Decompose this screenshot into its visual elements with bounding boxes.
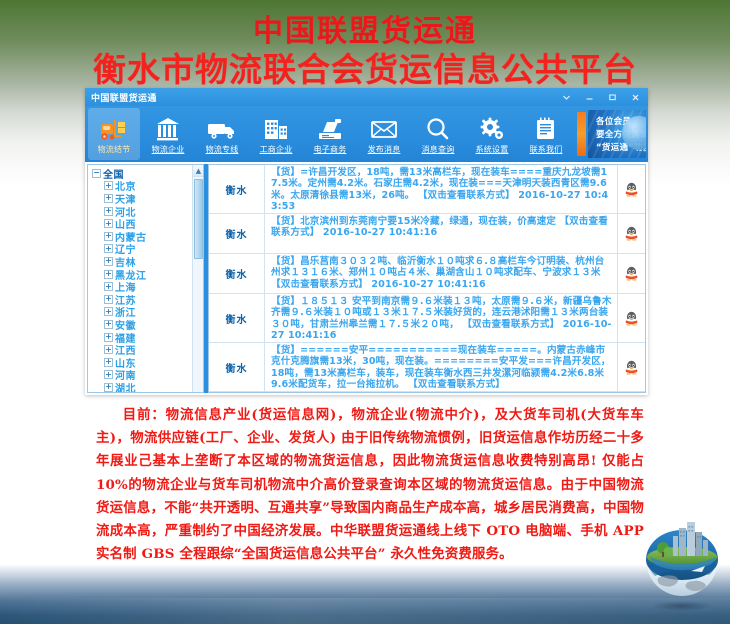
tree-toggle-icon[interactable]: + [104, 194, 113, 203]
toolbar-label: 电子商务 [314, 144, 347, 155]
qq-icon[interactable] [625, 311, 638, 326]
tree-vertical-scrollbar[interactable]: ▲ [192, 165, 203, 392]
tree-toggle-icon[interactable]: + [104, 307, 113, 316]
member-announcement-banner[interactable]: 各位会员 要全方位测试 “货运通”功能！ [588, 110, 646, 158]
toolbar-label: 物流专线 [206, 144, 239, 155]
tree-node-6[interactable]: +吉林 [91, 255, 203, 268]
tree-toggle-icon[interactable]: + [104, 257, 113, 266]
toolbar-label: 消息查询 [422, 144, 455, 155]
gear-icon [477, 113, 507, 143]
toolbar-item-fabuxiaoxi[interactable]: 发布消息 [358, 108, 410, 160]
tree-toggle-icon[interactable]: + [104, 295, 113, 304]
row-message-text[interactable]: 【货】=许昌开发区，18吨，需13米高栏车，现在装车====重庆九龙坡需17.5… [265, 165, 617, 213]
bottom-band-shine [0, 598, 730, 624]
tree-node-1[interactable]: +天津 [91, 192, 203, 205]
toolbar-label: 物流结节 [98, 144, 131, 155]
toolbar-item-wuliuqiye[interactable]: 物流企业 [142, 108, 194, 160]
close-icon[interactable] [624, 90, 646, 104]
tree-node-14[interactable]: +山东 [91, 356, 203, 369]
orange-accent-bar [577, 112, 586, 156]
message-row[interactable]: 衡水【货】１８５１３ 安平到南京需９.６米装１３吨，太原需９.６米，新疆乌鲁木齐… [209, 294, 645, 343]
tree-node-11[interactable]: +安徽 [91, 318, 203, 331]
toolbar-item-wuliuzhuanxian[interactable]: 物流专线 [196, 108, 248, 160]
tree-node-10[interactable]: +浙江 [91, 306, 203, 319]
headline-line-1: 中国联盟货运通 [0, 14, 730, 50]
tree-node-7[interactable]: +黑龙江 [91, 268, 203, 281]
tree-node-8[interactable]: +上海 [91, 280, 203, 293]
headline-line-2: 衡水市物流联合会货运信息公共平台 [0, 50, 730, 90]
tree-toggle-icon[interactable]: + [104, 232, 113, 241]
qq-contact-cell[interactable] [617, 214, 645, 253]
window-titlebar: 中国联盟货运通 [85, 88, 648, 106]
row-body: 【货】======安平===========现在装车=====。内蒙古赤峰市克什… [271, 345, 611, 390]
toolbar-item-xitongshezhi[interactable]: 系统设置 [466, 108, 518, 160]
promo-paragraph: 目前：物流信息产业(货运信息网)，物流企业(物流中介)，及大货车司机(大货车车主… [96, 404, 644, 566]
tree-toggle-icon[interactable]: + [104, 181, 113, 190]
row-message-text[interactable]: 【货】======安平===========现在装车=====。内蒙古赤峰市克什… [265, 343, 617, 391]
row-city: 衡水 [209, 294, 265, 342]
notebook-icon [531, 113, 561, 143]
toolbar-label: 工商企业 [260, 144, 293, 155]
qq-icon[interactable] [625, 226, 638, 241]
message-row[interactable]: 衡水【货】北京滨州到东莞南宁要15米冷藏，绿通，现在装，价高速定 【双击查看联系… [209, 214, 645, 254]
tree-node-5[interactable]: +辽宁 [91, 243, 203, 256]
tree-node-0[interactable]: +北京 [91, 180, 203, 193]
qq-contact-cell[interactable] [617, 254, 645, 293]
row-city: 衡水 [209, 214, 265, 253]
qq-contact-cell[interactable] [617, 165, 645, 213]
row-timestamp: 2016-10-27 10:41:16 [371, 279, 485, 290]
office-icon [261, 113, 291, 143]
tree-node-15[interactable]: +河南 [91, 369, 203, 382]
tree-node-12[interactable]: +福建 [91, 331, 203, 344]
tree-node-4[interactable]: +内蒙古 [91, 230, 203, 243]
toolbar-item-gongshangqiye[interactable]: 工商企业 [250, 108, 302, 160]
window-body: − 全国 +北京+天津+河北+山西+内蒙古+辽宁+吉林+黑龙江+上海+江苏+浙江… [85, 162, 648, 395]
tree-toggle-icon[interactable]: + [104, 333, 113, 342]
message-row[interactable]: 衡水【货】昌乐莒南３０３２吨、临沂衡水１０吨求６.８高栏车今订明装、杭州台州求１… [209, 254, 645, 294]
row-message-text[interactable]: 【货】北京滨州到东莞南宁要15米冷藏，绿通，现在装，价高速定 【双击查看联系方式… [265, 214, 617, 253]
page-title: 中国联盟货运通 衡水市物流联合会货运信息公共平台 [0, 14, 730, 90]
window-controls [555, 90, 646, 104]
region-tree-panel: − 全国 +北京+天津+河北+山西+内蒙古+辽宁+吉林+黑龙江+上海+江苏+浙江… [87, 164, 204, 393]
tree-toggle-icon[interactable]: + [104, 320, 113, 329]
qq-contact-cell[interactable] [617, 343, 645, 391]
toolbar-item-dianzishangwu[interactable]: 电子商务 [304, 108, 356, 160]
message-list-panel: 衡水【货】=许昌开发区，18吨，需13米高栏车，现在装车====重庆九龙坡需17… [208, 164, 646, 393]
toolbar-item-xiaoxichaxun[interactable]: 消息查询 [412, 108, 464, 160]
forklift-icon [99, 113, 129, 143]
toolbar-item-wuliujiejie[interactable]: 物流结节 [88, 108, 140, 160]
toolbar-label: 系统设置 [476, 144, 509, 155]
window-title: 中国联盟货运通 [91, 91, 157, 104]
tree-toggle-icon[interactable]: + [104, 370, 113, 379]
tree-toggle-icon[interactable]: − [92, 169, 101, 178]
qq-icon[interactable] [625, 360, 638, 375]
tree-node-label: 湖北 [115, 380, 136, 393]
tree-toggle-icon[interactable]: + [104, 282, 113, 291]
tree-node-13[interactable]: +江西 [91, 343, 203, 356]
row-body: 【货】北京滨州到东莞南宁要15米冷藏，绿通，现在装，价高速定 【双击查看联系方式… [271, 216, 608, 238]
minimize-to-tray-icon[interactable] [555, 90, 577, 104]
row-city: 衡水 [209, 254, 265, 293]
tree-node-root[interactable]: − 全国 [91, 167, 203, 180]
tree-toggle-icon[interactable]: + [104, 207, 113, 216]
toolbar-label: 联系我们 [530, 144, 563, 155]
tree-node-16[interactable]: +湖北 [91, 381, 203, 393]
row-message-text[interactable]: 【货】１８５１３ 安平到南京需９.６米装１３吨，太原需９.６米，新疆乌鲁木齐需９… [265, 294, 617, 342]
row-city: 衡水 [209, 343, 265, 391]
toolbar-label: 发布消息 [368, 144, 401, 155]
tree-toggle-icon[interactable]: + [104, 244, 113, 253]
toolbar-item-lianxiwomen[interactable]: 联系我们 [520, 108, 572, 160]
tree-node-2[interactable]: +河北 [91, 205, 203, 218]
message-row[interactable]: 衡水【货】=许昌开发区，18吨，需13米高栏车，现在装车====重庆九龙坡需17… [209, 165, 645, 214]
tree-toggle-icon[interactable]: + [104, 383, 113, 392]
tree-toggle-icon[interactable]: + [104, 358, 113, 367]
row-city: 衡水 [209, 165, 265, 213]
envelope-icon [368, 113, 400, 143]
tree-node-3[interactable]: +山西 [91, 217, 203, 230]
qq-icon[interactable] [625, 266, 638, 281]
tree-toggle-icon[interactable]: + [104, 270, 113, 279]
qq-icon[interactable] [625, 182, 638, 197]
message-row[interactable]: 衡水【货】======安平===========现在装车=====。内蒙古赤峰市… [209, 343, 645, 392]
scrollbar-thumb[interactable] [194, 179, 203, 259]
maximize-icon[interactable] [601, 90, 623, 104]
application-window: 中国联盟货运通 [85, 88, 648, 395]
region-tree: − 全国 +北京+天津+河北+山西+内蒙古+辽宁+吉林+黑龙江+上海+江苏+浙江… [88, 165, 203, 393]
row-timestamp: 2016-10-27 10:41:16 [323, 227, 437, 238]
building-icon [153, 113, 183, 143]
minimize-icon[interactable] [578, 90, 600, 104]
row-message-text[interactable]: 【货】昌乐莒南３０３２吨、临沂衡水１０吨求６.８高栏车今订明装、杭州台州求１３１… [265, 254, 617, 293]
row-body: 【货】１８５１３ 安平到南京需９.６米装１３吨，太原需９.６米，新疆乌鲁木齐需９… [271, 296, 612, 330]
tree-node-9[interactable]: +江苏 [91, 293, 203, 306]
qq-contact-cell[interactable] [617, 294, 645, 342]
tree-toggle-icon[interactable]: + [104, 345, 113, 354]
ecommerce-icon [314, 113, 346, 143]
tree-children: +北京+天津+河北+山西+内蒙古+辽宁+吉林+黑龙江+上海+江苏+浙江+安徽+福… [91, 180, 203, 393]
truck-icon [206, 113, 238, 143]
globe-city-illustration [636, 516, 724, 612]
tree-toggle-icon[interactable]: + [104, 219, 113, 228]
toolbar-label: 物流企业 [152, 144, 185, 155]
search-icon [423, 113, 453, 143]
scroll-up-arrow-icon[interactable]: ▲ [193, 165, 204, 177]
main-toolbar: 物流结节 物流企业 [85, 106, 648, 162]
